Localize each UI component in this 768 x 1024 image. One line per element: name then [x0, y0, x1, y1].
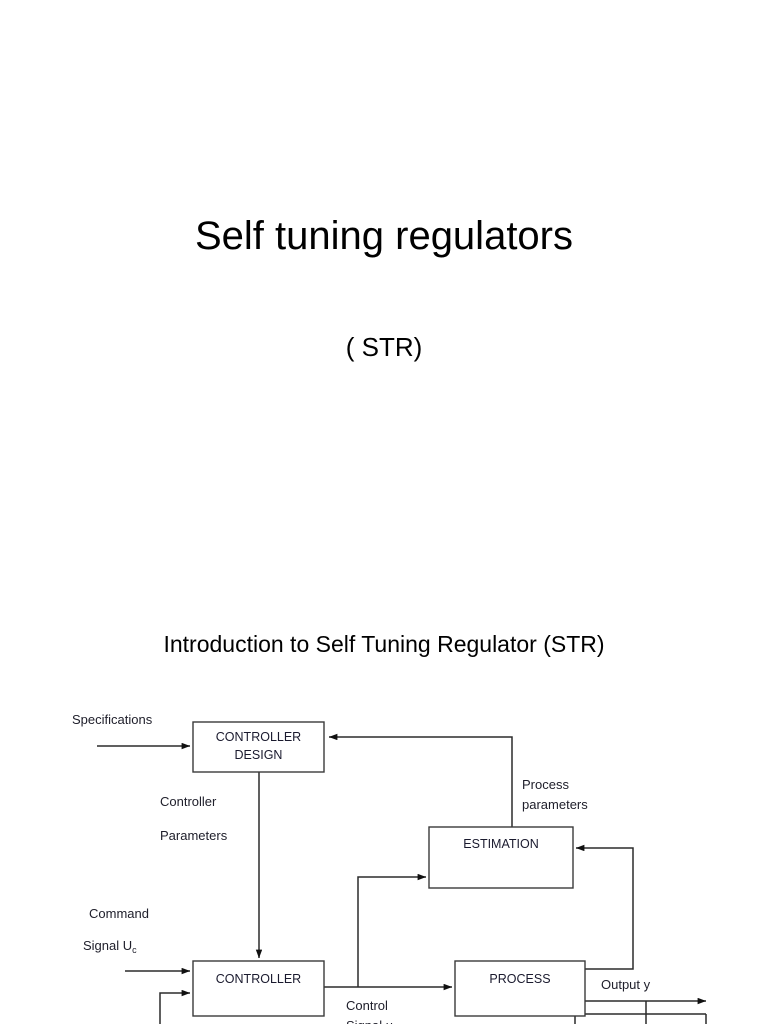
block-process[interactable]: PROCESS	[455, 961, 585, 1016]
block-process-label: PROCESS	[489, 972, 550, 986]
block-controller[interactable]: CONTROLLER	[193, 961, 324, 1016]
label-command-signal-line2: Signal Uc	[83, 938, 137, 955]
label-command-signal-text: Signal U	[83, 938, 132, 953]
slide-canvas: Self tuning regulators ( STR) Introducti…	[0, 0, 768, 1024]
label-output-y: Output y	[601, 977, 651, 992]
label-command-signal-line1: Command	[89, 906, 149, 921]
label-control-signal-line1: Control	[346, 998, 388, 1013]
label-specifications: Specifications	[72, 712, 153, 727]
block-controller-design-label-line1: CONTROLLER	[216, 730, 301, 744]
label-controller-parameters-line1: Controller	[160, 794, 217, 809]
block-estimation-label: ESTIMATION	[463, 837, 538, 851]
page-subtitle: ( STR)	[0, 332, 768, 363]
edge-output-feedback-to-controller	[160, 993, 190, 1024]
label-process-parameters-line1: Process	[522, 777, 569, 792]
page-title: Self tuning regulators	[0, 214, 768, 258]
section-heading: Introduction to Self Tuning Regulator (S…	[0, 631, 768, 658]
block-estimation[interactable]: ESTIMATION	[429, 827, 573, 888]
block-controller-label: CONTROLLER	[216, 972, 301, 986]
label-process-parameters-line2: parameters	[522, 797, 588, 812]
label-controller-parameters-line2: Parameters	[160, 828, 228, 843]
block-controller-design[interactable]: CONTROLLER DESIGN	[193, 722, 324, 772]
label-control-signal-line2: Signal u	[346, 1018, 393, 1024]
label-command-signal-subscript: c	[132, 945, 137, 955]
edge-control-signal-to-estimation	[358, 877, 426, 987]
block-controller-design-label-line2: DESIGN	[235, 748, 283, 762]
block-diagram: CONTROLLER DESIGN ESTIMATION CONTROLLER …	[0, 690, 768, 1024]
edge-process-parameters	[329, 737, 512, 827]
edge-output-to-estimation	[576, 848, 633, 969]
